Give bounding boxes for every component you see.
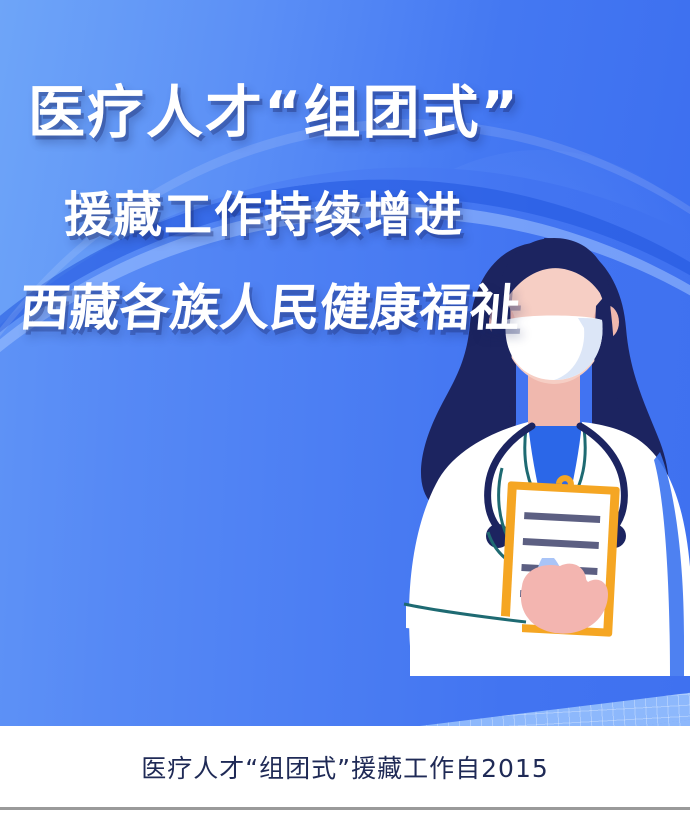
caption-bar: 医疗人才“组团式”援藏工作自2015 <box>0 726 690 808</box>
headline-line-1: 医疗人才“组团式” <box>28 79 520 147</box>
headline-line-2: 援藏工作持续增进 <box>64 186 464 244</box>
bottom-divider <box>0 807 690 810</box>
poster-root: 医疗人才“组团式” 援藏工作持续增进 西藏各族人民健康福祉 医疗人才“组团式”援… <box>0 0 690 814</box>
hero-image: 医疗人才“组团式” 援藏工作持续增进 西藏各族人民健康福祉 <box>0 0 690 726</box>
caption-text: 医疗人才“组团式”援藏工作自2015 <box>141 749 549 785</box>
headline-line-3: 西藏各族人民健康福祉 <box>17 278 522 338</box>
